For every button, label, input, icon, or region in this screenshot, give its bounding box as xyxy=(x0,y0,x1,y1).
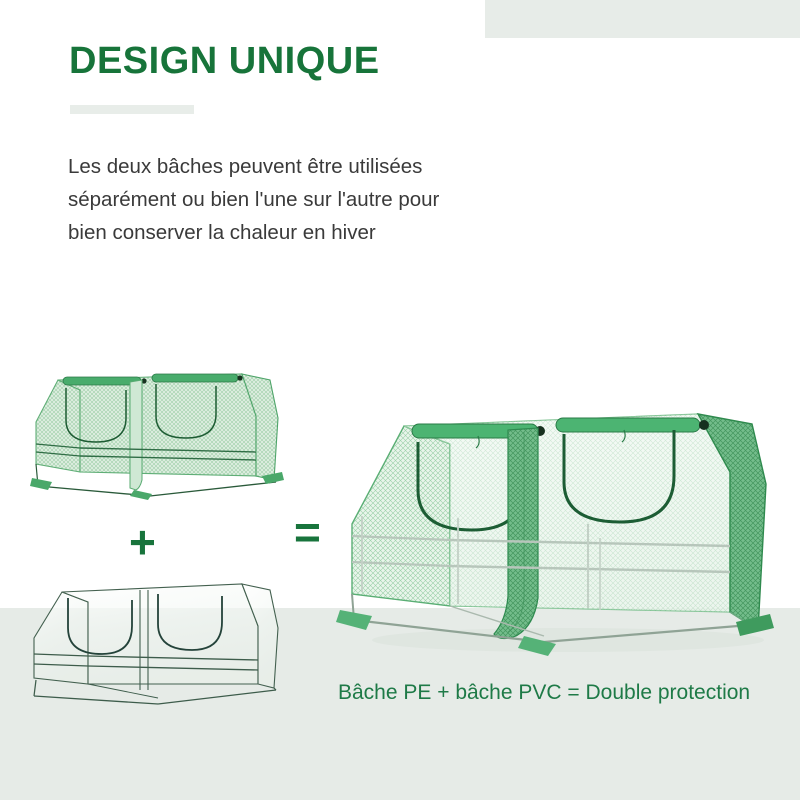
combined-greenhouse-illustration xyxy=(338,398,782,660)
equals-operator: = xyxy=(294,509,321,555)
page-title: DESIGN UNIQUE xyxy=(69,40,380,83)
title-divider-rule xyxy=(70,105,194,114)
pvc-greenhouse-illustration xyxy=(18,572,294,704)
product-feature-slide: DESIGN UNIQUE Les deux bâches peuvent êt… xyxy=(0,0,800,800)
plus-operator: + xyxy=(129,519,156,565)
top-right-accent-band xyxy=(485,0,800,38)
description-line-3: bien conserver la chaleur en hiver xyxy=(68,216,498,249)
description-line-2: séparément ou bien l'une sur l'autre pou… xyxy=(68,183,498,216)
pe-greenhouse-illustration xyxy=(30,360,292,500)
description-line-1: Les deux bâches peuvent être utilisées xyxy=(68,150,498,183)
product-caption: Bâche PE + bâche PVC = Double protection xyxy=(338,681,750,705)
description-paragraph: Les deux bâches peuvent être utilisées s… xyxy=(68,150,498,249)
